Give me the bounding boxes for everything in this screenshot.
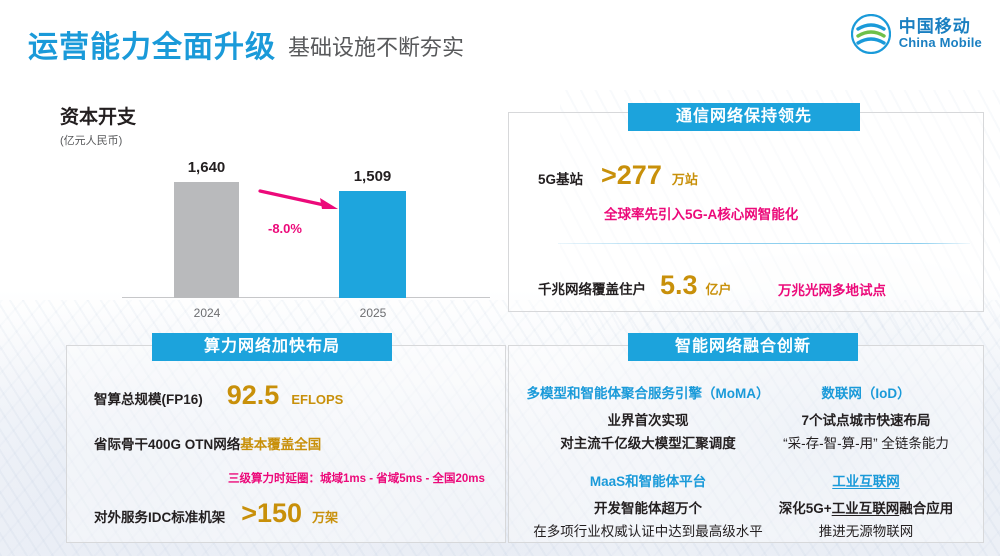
- metric-unit: 亿户: [706, 279, 732, 298]
- text-post: 融合应用: [899, 501, 953, 516]
- panel-network-divider: [558, 243, 970, 244]
- metric-5g-base-stations: 5G基站 >277 万站: [538, 162, 698, 189]
- metric-ai-compute-scale: 智算总规模(FP16) 92.5 EFLOPS: [94, 382, 343, 409]
- note-latency-circles: 三级算力时延圈：城域1ms - 省域5ms - 全国20ms: [228, 470, 485, 486]
- metric-value: 92.5: [227, 382, 280, 409]
- text-highlight: 超万个: [662, 501, 703, 516]
- metric-label: 智算总规模(FP16): [94, 388, 203, 408]
- page-title: 运营能力全面升级: [28, 22, 276, 66]
- text-pre: 对主流: [560, 436, 601, 451]
- panel-intelligent-heading: 智能网络融合创新: [628, 333, 858, 361]
- item-industrial-line2: 推进无源物联网: [760, 520, 972, 540]
- item-maas-line2: 在多项行业权威认证中达到最高级水平: [508, 520, 788, 540]
- bar-value-2025: 1,509: [339, 168, 406, 185]
- metric-label: 5G基站: [538, 168, 583, 188]
- bar-value-2024: 1,640: [174, 159, 239, 176]
- item-iod-line1: 7个试点城市快速布局: [760, 409, 972, 430]
- text-highlight: 7个: [801, 413, 822, 428]
- item-maas-title: MaaS和智能体平台: [518, 470, 778, 490]
- text-highlight: 千亿级: [601, 436, 642, 451]
- chart-unit-label: (亿元人民币): [60, 132, 122, 148]
- item-industrial-title: 工业互联网: [760, 470, 972, 490]
- category-label-2024: 2024: [168, 306, 246, 320]
- metric-label: 千兆网络覆盖住户: [538, 278, 646, 298]
- bar-2024: [174, 182, 239, 298]
- item-iod-line2: “采-存-智-算-用” 全链条能力: [760, 432, 972, 452]
- bar-2025: [339, 191, 406, 298]
- logo-text-en: China Mobile: [899, 36, 982, 50]
- metric-highlight: 基本覆盖全国: [240, 433, 321, 453]
- chart-title: 资本开支: [60, 102, 136, 129]
- decline-arrow-icon: [258, 188, 340, 214]
- page-subtitle: 基础设施不断夯实: [288, 30, 464, 62]
- china-mobile-mark-icon: [851, 14, 891, 54]
- text-post: 大模型汇聚调度: [641, 436, 736, 451]
- panel-network-heading: 通信网络保持领先: [628, 103, 860, 131]
- item-industrial-line1: 深化5G+工业互联网融合应用: [750, 497, 982, 518]
- metric-idc-racks: 对外服务IDC标准机架 >150 万架: [94, 500, 338, 527]
- metric-value: >150: [241, 500, 302, 527]
- item-moma-title: 多模型和智能体聚合服务引擎（MoMA）: [518, 382, 778, 402]
- text-pre: 深化5G+: [779, 501, 832, 516]
- note-5ga-core: 全球率先引入5G-A核心网智能化: [604, 203, 798, 223]
- metric-unit: 万架: [312, 507, 338, 526]
- metric-value: 5.3: [660, 272, 698, 299]
- logo-text-cn: 中国移动: [899, 18, 982, 36]
- text-post: 试点城市快速布局: [823, 413, 931, 428]
- item-moma-line2: 对主流千亿级大模型汇聚调度: [518, 432, 778, 453]
- chart-change-annotation: -8.0%: [268, 221, 302, 236]
- metric-value: >277: [601, 162, 662, 189]
- metric-gigabit-households: 千兆网络覆盖住户 5.3 亿户: [538, 272, 732, 299]
- text-highlight: 工业互联网: [832, 501, 900, 516]
- item-moma-line1: 业界首次实现: [518, 409, 778, 429]
- item-maas-line1: 开发智能体超万个: [518, 497, 778, 518]
- slide-canvas: 运营能力全面升级 基础设施不断夯实 中国移动 China Mobile 资本开支…: [0, 0, 1000, 556]
- note-10g-optical: 万兆光网多地试点: [778, 279, 886, 299]
- metric-label: 对外服务IDC标准机架: [94, 506, 225, 526]
- metric-unit: 万站: [672, 169, 698, 188]
- category-label-2025: 2025: [333, 306, 413, 320]
- item-iod-title: 数联网（IoD）: [760, 382, 972, 402]
- metric-label: 省际骨干400G OTN网络: [94, 433, 240, 453]
- text-pre: 开发智能体: [594, 501, 662, 516]
- china-mobile-logo: 中国移动 China Mobile: [851, 14, 982, 54]
- panel-computing-heading: 算力网络加快布局: [152, 333, 392, 361]
- capex-bar-chart: 1,640 1,509 2024 2025 -8.0%: [122, 150, 504, 320]
- metric-otn-backbone: 省际骨干400G OTN网络 基本覆盖全国: [94, 433, 321, 453]
- metric-unit: EFLOPS: [291, 392, 343, 407]
